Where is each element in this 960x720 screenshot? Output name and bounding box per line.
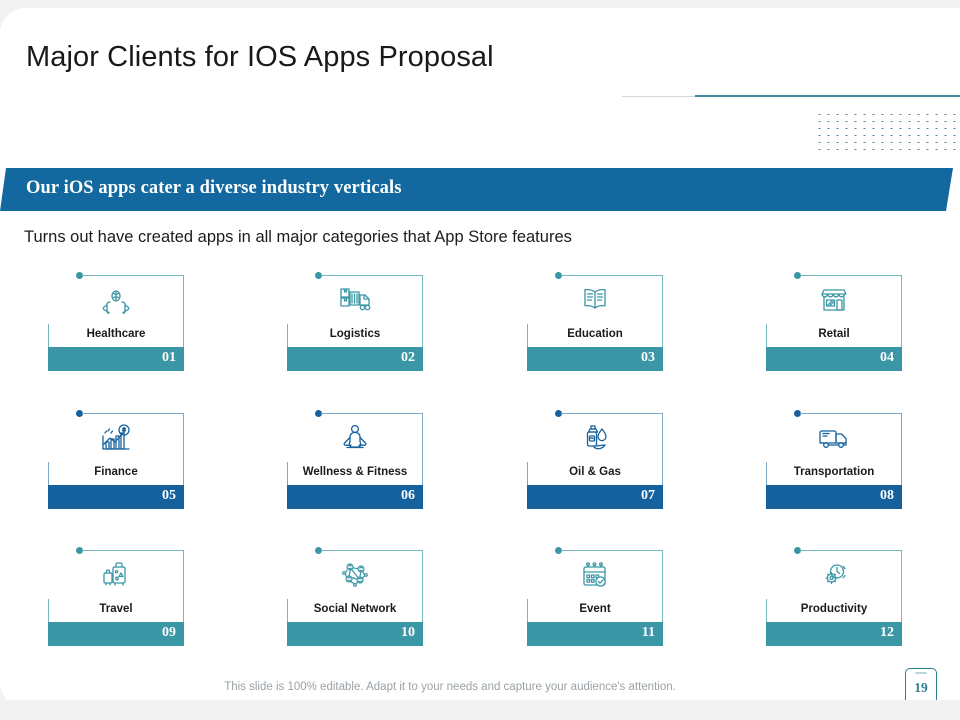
card-label: Wellness & Fitness [287, 461, 423, 483]
card-label: Event [527, 598, 663, 620]
card-top-rule [561, 413, 663, 414]
card-label: Transportation [766, 461, 902, 483]
yoga-meditation-icon [287, 416, 423, 460]
category-card-finance[interactable]: Finance05 [48, 410, 184, 513]
card-top-rule [82, 550, 184, 551]
card-number-bar: 04 [766, 347, 902, 371]
card-number-bar: 05 [48, 485, 184, 509]
slide-bottom-strip [0, 700, 960, 720]
category-card-grid: Healthcare01Logistics02Education03Retail… [0, 8, 960, 708]
card-number-bar: 09 [48, 622, 184, 646]
card-number-bar: 06 [287, 485, 423, 509]
category-card-retail[interactable]: Retail04 [766, 272, 902, 375]
card-top-rule [800, 550, 902, 551]
card-number: 04 [880, 350, 894, 366]
card-top-rule [800, 275, 902, 276]
category-card-logistics[interactable]: Logistics02 [287, 272, 423, 375]
card-number-bar: 08 [766, 485, 902, 509]
card-top-rule [82, 413, 184, 414]
card-top-rule [321, 550, 423, 551]
card-top-rule [321, 275, 423, 276]
card-number: 12 [880, 625, 894, 641]
category-card-transportation[interactable]: Transportation08 [766, 410, 902, 513]
card-number-bar: 10 [287, 622, 423, 646]
card-number: 03 [641, 350, 655, 366]
category-card-wellness-fitness[interactable]: Wellness & Fitness06 [287, 410, 423, 513]
category-card-education[interactable]: Education03 [527, 272, 663, 375]
phone-speaker-icon [915, 672, 927, 674]
category-card-social-network[interactable]: Social Network10 [287, 547, 423, 650]
category-card-travel[interactable]: Travel09 [48, 547, 184, 650]
hands-brain-icon [48, 278, 184, 322]
category-card-productivity[interactable]: Productivity12 [766, 547, 902, 650]
storefront-icon [766, 278, 902, 322]
card-number: 05 [162, 488, 176, 504]
card-number: 07 [641, 488, 655, 504]
card-label: Oil & Gas [527, 461, 663, 483]
calendar-check-icon [527, 553, 663, 597]
category-card-oil-gas[interactable]: Oil & Gas07 [527, 410, 663, 513]
truck-icon [766, 416, 902, 460]
card-top-rule [800, 413, 902, 414]
card-top-rule [561, 550, 663, 551]
card-label: Productivity [766, 598, 902, 620]
card-number: 11 [642, 625, 655, 641]
oil-droplet-icon [527, 416, 663, 460]
slide-panel: Major Clients for IOS Apps Proposal Our … [0, 8, 960, 708]
card-number-bar: 07 [527, 485, 663, 509]
card-label: Education [527, 323, 663, 345]
card-number-bar: 01 [48, 347, 184, 371]
category-card-healthcare[interactable]: Healthcare01 [48, 272, 184, 375]
card-label: Travel [48, 598, 184, 620]
card-top-rule [82, 275, 184, 276]
luggage-icon [48, 553, 184, 597]
card-label: Social Network [287, 598, 423, 620]
footer-note: This slide is 100% editable. Adapt it to… [0, 681, 900, 693]
open-book-icon [527, 278, 663, 322]
page-number: 19 [906, 680, 936, 696]
card-label: Retail [766, 323, 902, 345]
card-number: 08 [880, 488, 894, 504]
card-number-bar: 03 [527, 347, 663, 371]
card-number-bar: 11 [527, 622, 663, 646]
gear-clock-icon [766, 553, 902, 597]
card-number: 02 [401, 350, 415, 366]
network-nodes-icon [287, 553, 423, 597]
growth-chart-icon [48, 416, 184, 460]
card-number: 09 [162, 625, 176, 641]
card-label: Finance [48, 461, 184, 483]
card-number: 06 [401, 488, 415, 504]
card-number: 10 [401, 625, 415, 641]
card-label: Healthcare [48, 323, 184, 345]
delivery-boxes-icon [287, 278, 423, 322]
card-label: Logistics [287, 323, 423, 345]
card-number-bar: 02 [287, 347, 423, 371]
category-card-event[interactable]: Event11 [527, 547, 663, 650]
card-number: 01 [162, 350, 176, 366]
card-number-bar: 12 [766, 622, 902, 646]
card-top-rule [321, 413, 423, 414]
card-top-rule [561, 275, 663, 276]
